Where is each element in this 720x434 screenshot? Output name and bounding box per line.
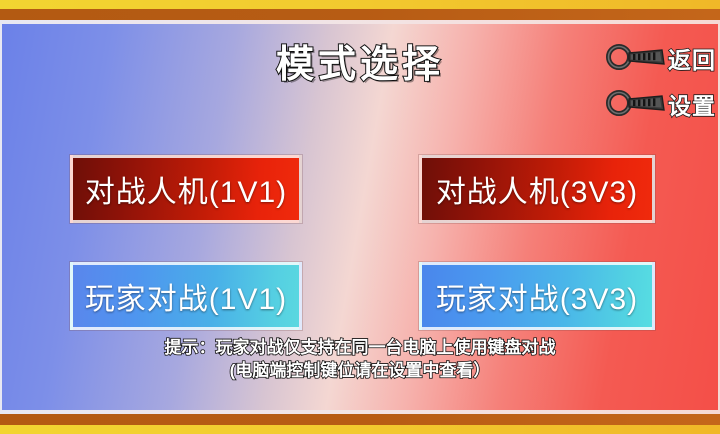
game-screen: 模式选择 返回	[0, 0, 720, 434]
mode-button-ai-1v1[interactable]: 对战人机(1V1)	[70, 155, 302, 223]
pin-ring-icon	[606, 90, 668, 121]
mode-button-ai-3v3[interactable]: 对战人机(3V3)	[419, 155, 655, 223]
stage-background: 模式选择 返回	[2, 24, 718, 410]
return-button[interactable]: 返回	[606, 44, 716, 75]
pin-ring-icon	[606, 44, 668, 75]
hint-line-2: (电脑端控制键位请在设置中查看）	[2, 359, 718, 382]
mode-button-pvp-3v3[interactable]: 玩家对战(3V3)	[419, 262, 655, 330]
hint-line-1: 提示：玩家对战仅支持在同一台电脑上使用键盘对战	[2, 336, 718, 359]
mode-button-pvp-1v1[interactable]: 玩家对战(1V1)	[70, 262, 302, 330]
return-button-label: 返回	[668, 47, 716, 73]
hint-text: 提示：玩家对战仅支持在同一台电脑上使用键盘对战 (电脑端控制键位请在设置中查看）	[2, 336, 718, 382]
settings-button[interactable]: 设置	[606, 90, 716, 121]
mode-button-label: 对战人机(3V3)	[436, 167, 638, 211]
mode-button-label: 玩家对战(3V3)	[436, 274, 638, 318]
mode-button-label: 玩家对战(1V1)	[85, 274, 287, 318]
settings-button-label: 设置	[668, 93, 716, 119]
mode-button-label: 对战人机(1V1)	[85, 167, 287, 211]
